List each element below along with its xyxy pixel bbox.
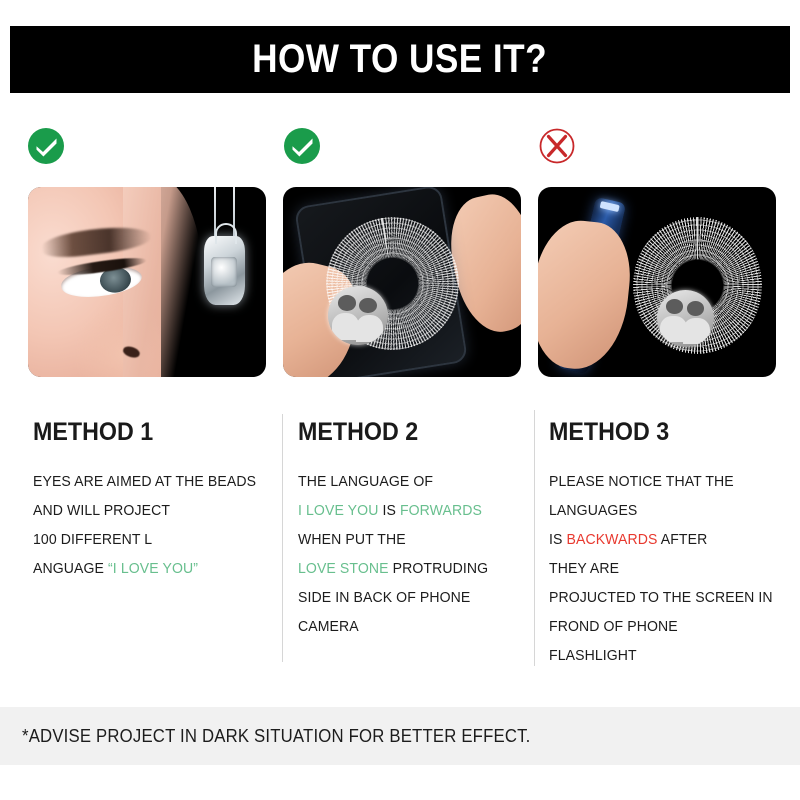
text-run: PROTRUDING [389,561,489,577]
text-run: IS [549,532,566,548]
couple-photo-inset [328,286,388,345]
method-body-line: FLASHLIGHT [549,642,780,671]
text-run: IS [378,503,400,519]
text-run: AND WILL PROJECT [33,503,170,519]
method-title: METHOD 2 [298,418,514,447]
text-run: LANGUAGES [549,503,637,519]
text-run: 100 DIFFERENT L [33,532,152,548]
method-body-line: EYES ARE AIMED AT THE BEADS [33,468,266,497]
love-stone-pendant [204,236,244,304]
method-body-line: LANGUAGES [549,497,780,526]
text-run: LOVE STONE [298,561,389,577]
method-body-line: LOVE STONE PROTRUDING [298,555,523,584]
method-body: THE LANGUAGE OFI LOVE YOU IS FORWARDSWHE… [298,468,530,642]
phone-flashlight-projection-photo [538,187,776,377]
couple-photo-inset [657,290,714,347]
text-run: ANGUAGE [33,561,108,577]
footer-note-band: *ADVISE PROJECT IN DARK SITUATION FOR BE… [0,707,800,765]
text-run: SIDE IN BACK OF PHONE [298,590,470,606]
method-body-line: 100 DIFFERENT L [33,526,266,555]
text-run: THEY ARE [549,561,619,577]
method-body-line: IS BACKWARDS AFTER [549,526,780,555]
method-body-line: THE LANGUAGE OF [298,468,523,497]
text-run: I LOVE YOU [298,503,378,519]
method-2-text-block: METHOD 2 THE LANGUAGE OFI LOVE YOU IS FO… [298,418,530,642]
text-run: THE LANGUAGE OF [298,474,433,490]
method-body-line: PROJUCTED TO THE SCREEN IN [549,584,780,613]
text-run: “I LOVE YOU” [108,561,198,577]
advise-note: *ADVISE PROJECT IN DARK SITUATION FOR BE… [22,726,531,747]
method-body-line: SIDE IN BACK OF PHONE [298,584,523,613]
method-body-line: ANGUAGE “I LOVE YOU” [33,555,266,584]
text-run: EYES ARE AIMED AT THE BEADS [33,474,256,490]
column-divider [534,410,535,666]
text-run: FROND OF PHONE [549,619,678,635]
infographic-page: HOW TO USE IT? [0,0,800,800]
text-run: BACKWARDS [566,532,657,548]
method-3-text-block: METHOD 3 PLEASE NOTICE THAT THELANGUAGES… [549,418,787,671]
method-1-text-block: METHOD 1 EYES ARE AIMED AT THE BEADSAND … [33,418,273,584]
method-body: PLEASE NOTICE THAT THELANGUAGESIS BACKWA… [549,468,787,671]
text-run: PROJUCTED TO THE SCREEN IN [549,590,773,606]
text-run: FORWARDS [400,503,482,519]
column-divider [282,414,283,662]
page-title: HOW TO USE IT? [253,37,548,82]
method-body-line: THEY ARE [549,555,780,584]
method-body-line: FROND OF PHONE [549,613,780,642]
green-check-circle-icon [283,127,321,165]
text-run: CAMERA [298,619,359,635]
green-check-circle-icon [27,127,65,165]
red-cross-circle-icon [538,127,576,165]
method-body-line: I LOVE YOU IS FORWARDS [298,497,523,526]
method-title: METHOD 1 [33,418,256,447]
text-run: FLASHLIGHT [549,648,637,664]
left-hand [538,217,636,374]
phone-camera-projection-photo [283,187,521,377]
method-body-line: PLEASE NOTICE THAT THE [549,468,780,497]
text-run: AFTER [658,532,708,548]
text-run: WHEN PUT THE [298,532,406,548]
eye-and-pendant-photo [28,187,266,377]
method-body-line: WHEN PUT THE [298,526,523,555]
method-body-line: AND WILL PROJECT [33,497,266,526]
method-title: METHOD 3 [549,418,770,447]
header-banner: HOW TO USE IT? [10,26,790,93]
method-body: EYES ARE AIMED AT THE BEADSAND WILL PROJ… [33,468,273,584]
text-run: PLEASE NOTICE THAT THE [549,474,734,490]
method-body-line: CAMERA [298,613,523,642]
